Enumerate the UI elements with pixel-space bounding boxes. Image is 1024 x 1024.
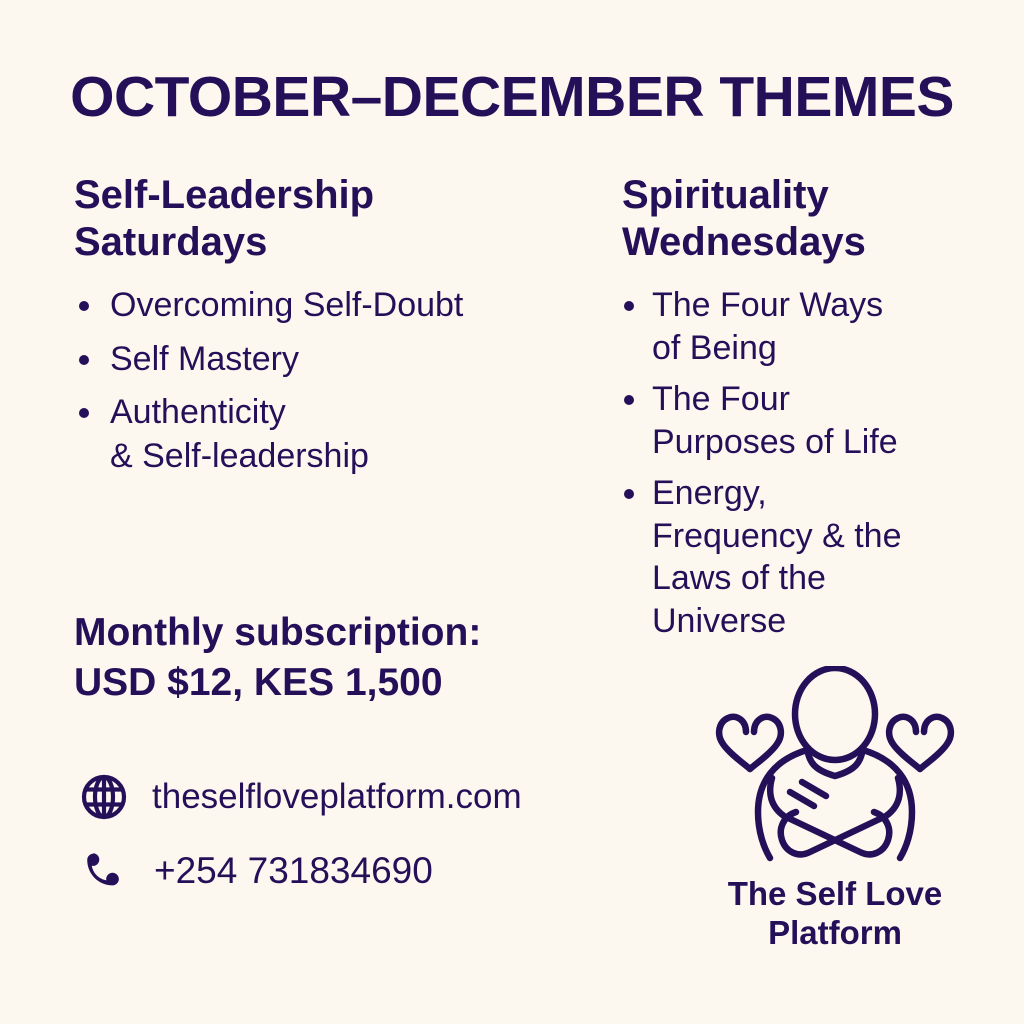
- list-item-line-3: Laws of the: [652, 557, 962, 600]
- page-title: OCTOBER–DECEMBER THEMES: [0, 68, 1024, 128]
- contact-phone-row[interactable]: +254 731834690: [78, 840, 638, 902]
- price-line-2: USD $12, KES 1,500: [74, 658, 614, 708]
- column-heading-self-leadership: Self-Leadership Saturdays: [74, 172, 594, 266]
- list-item-line-4: Universe: [652, 600, 962, 643]
- brand-name-line-1: The Self Love: [690, 875, 980, 914]
- list-item: The Four Purposes of Life: [622, 378, 962, 464]
- self-love-hug-figure-with-hearts-icon: [690, 666, 980, 871]
- column-heading-spirituality: Spirituality Wednesdays: [622, 172, 962, 266]
- brand-name-line-2: Platform: [690, 914, 980, 953]
- bullet-icon: [624, 489, 634, 499]
- theme-list-right: The Four Ways of Being The Four Purposes…: [622, 284, 962, 643]
- theme-list-left: Overcoming Self-Doubt Self Mastery Authe…: [74, 284, 594, 478]
- brand-logo: The Self Love Platform: [690, 666, 980, 953]
- list-item-line-2: Purposes of Life: [652, 421, 962, 464]
- column-heading-line-1: Spirituality: [622, 172, 962, 219]
- column-heading-line-2: Wednesdays: [622, 219, 962, 266]
- price-line-1: Monthly subscription:: [74, 608, 614, 658]
- column-heading-line-1: Self-Leadership: [74, 172, 594, 219]
- list-item-line-2: Frequency & the: [652, 515, 962, 558]
- list-item-line-1: The Four: [652, 378, 962, 421]
- bullet-icon: [79, 301, 89, 311]
- list-item: Overcoming Self-Doubt: [74, 284, 594, 328]
- poster-canvas: OCTOBER–DECEMBER THEMES Self-Leadership …: [0, 0, 1024, 1024]
- list-item-line-2: of Being: [652, 327, 962, 370]
- column-heading-line-2: Saturdays: [74, 219, 594, 266]
- bullet-icon: [624, 395, 634, 405]
- list-item-line-1: Authenticity: [110, 391, 594, 435]
- list-item-line-1: Energy,: [652, 472, 962, 515]
- bullet-icon: [79, 355, 89, 365]
- bullet-icon: [624, 301, 634, 311]
- subscription-price: Monthly subscription: USD $12, KES 1,500: [74, 608, 614, 708]
- contact-website-row[interactable]: theselfloveplatform.com: [78, 766, 638, 828]
- list-item: Authenticity & Self-leadership: [74, 391, 594, 478]
- list-item: The Four Ways of Being: [622, 284, 962, 370]
- list-item-line-1: The Four Ways: [652, 284, 962, 327]
- phone-number[interactable]: +254 731834690: [154, 850, 433, 892]
- list-item-line-2: & Self-leadership: [110, 435, 594, 479]
- brand-name: The Self Love Platform: [690, 875, 980, 953]
- phone-icon: [78, 845, 130, 897]
- contact-block: theselfloveplatform.com +254 731834690: [78, 766, 638, 902]
- list-item: Self Mastery: [74, 338, 594, 382]
- themes-column-right: Spirituality Wednesdays The Four Ways of…: [622, 172, 962, 651]
- website-url[interactable]: theselfloveplatform.com: [152, 777, 522, 817]
- list-item-line-1: Self Mastery: [110, 338, 594, 382]
- list-item-line-1: Overcoming Self-Doubt: [110, 284, 594, 328]
- list-item: Energy, Frequency & the Laws of the Univ…: [622, 472, 962, 643]
- globe-icon: [78, 771, 130, 823]
- themes-column-left: Self-Leadership Saturdays Overcoming Sel…: [74, 172, 594, 488]
- bullet-icon: [79, 408, 89, 418]
